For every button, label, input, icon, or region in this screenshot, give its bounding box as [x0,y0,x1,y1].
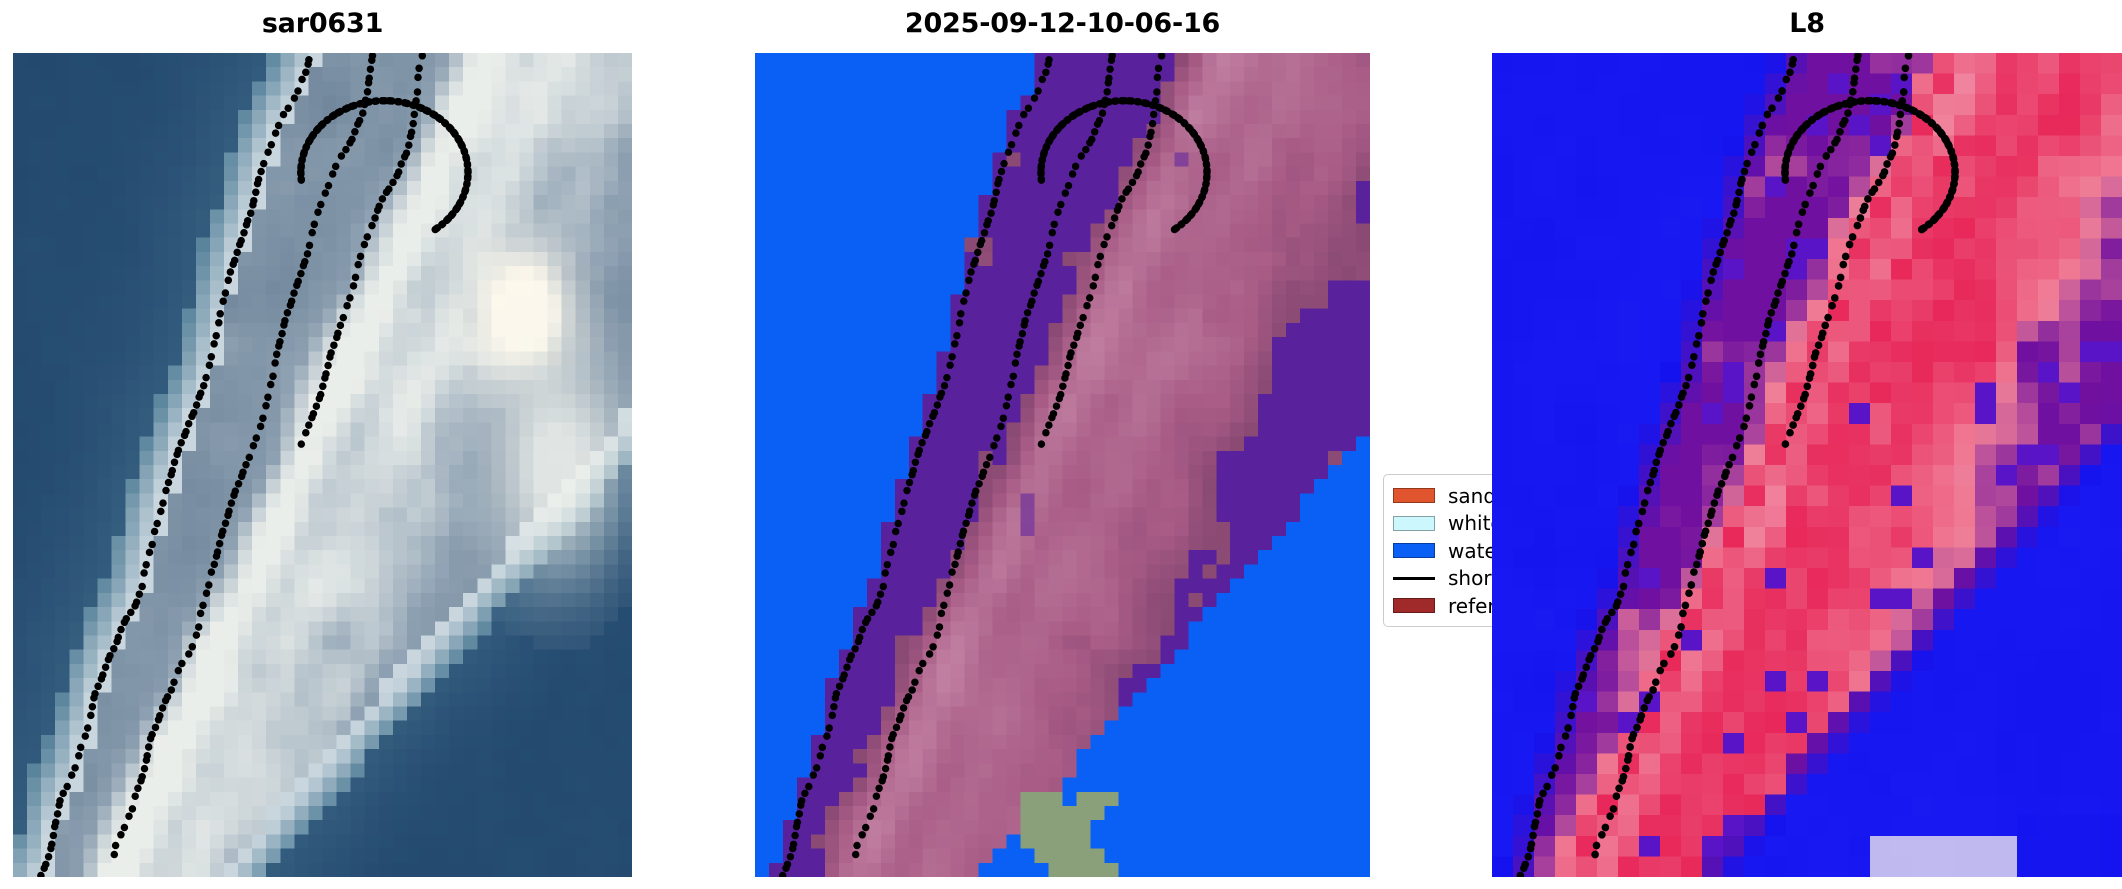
classification-panel [755,53,1370,877]
legend-label-sand: sand [1448,484,1496,508]
panel-title-classification: 2025-09-12-10-06-16 [755,8,1370,39]
reference-swatch-icon [1393,598,1435,613]
panel-title-l8: L8 [1492,8,2122,39]
water-swatch-icon [1393,543,1435,558]
classification-image [755,53,1370,877]
l8-panel [1492,53,2122,877]
shoreline-line-icon [1393,577,1435,580]
whitewater-swatch-icon [1393,516,1435,531]
sar-image [13,53,632,877]
sand-swatch-icon [1393,488,1435,503]
l8-image [1492,53,2122,877]
sar-panel [13,53,632,877]
figure-canvas: sar0631 2025-09-12-10-06-16 L8 sand whit… [0,0,2122,889]
panel-title-sar: sar0631 [13,8,632,39]
